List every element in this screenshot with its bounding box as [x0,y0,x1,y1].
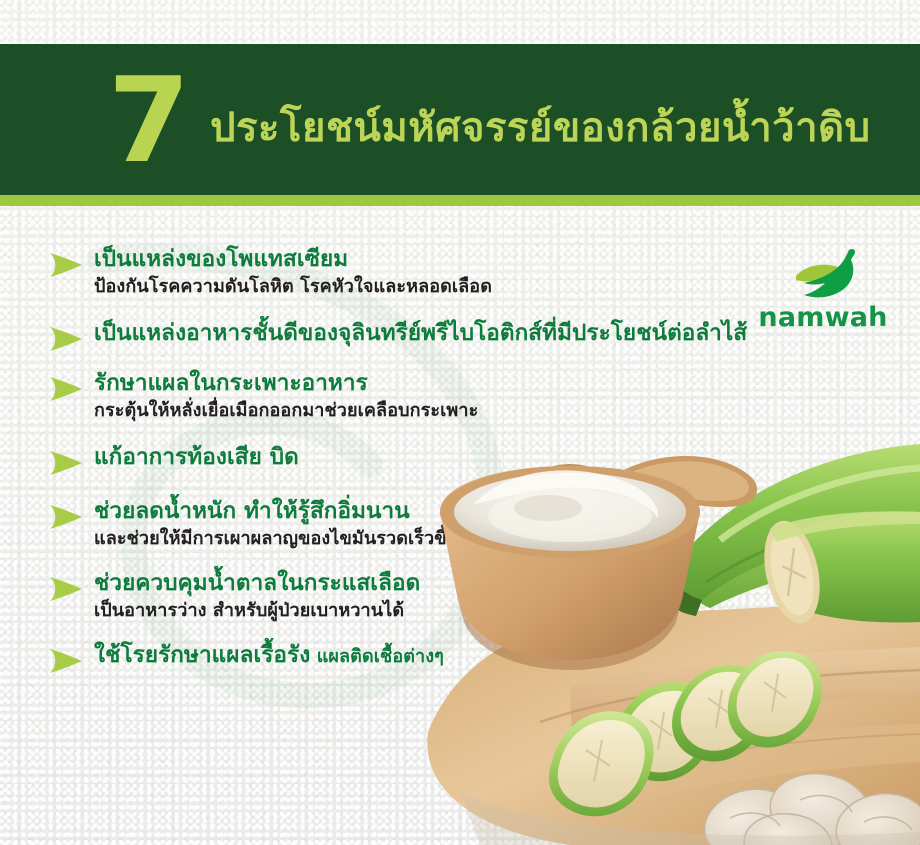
header-number: 7 [108,70,188,171]
arrow-bullet-icon [48,568,94,602]
arrow-bullet-icon [48,496,94,530]
arrow-bullet-icon [48,244,94,278]
list-item-body: รักษาแผลในกระเพาะอาหาร กระตุ้นให้หลั่งเย… [94,368,808,424]
infographic-poster: 7 ประโยชน์มหัศจรรย์ของกล้วยน้ำว้าดิบ nam… [0,0,920,845]
header-bottom-stripe [0,195,920,206]
list-item: รักษาแผลในกระเพาะอาหาร กระตุ้นให้หลั่งเย… [48,368,808,424]
benefit-lead-main: ใช้โรยรักษาแผลเรื้อรัง [94,642,310,668]
list-item: เป็นแหล่งอาหารชั้นดีของจุลินทรีย์พรีไบโอ… [48,318,808,352]
header-content: 7 ประโยชน์มหัศจรรย์ของกล้วยน้ำว้าดิบ [0,53,920,195]
arrow-bullet-icon [48,318,94,352]
benefit-lead: เป็นแหล่งอาหารชั้นดีของจุลินทรีย์พรีไบโอ… [94,318,808,348]
arrow-bullet-icon [48,640,94,674]
banana-flour-photo-illustration [420,432,920,845]
benefit-sub: ป้องกันโรคความดันโลหิต โรคหัวใจและหลอดเล… [94,275,808,300]
benefit-lead: เป็นแหล่งของโพแทสเซียม [94,244,808,274]
product-photo [420,432,920,845]
benefit-lead: รักษาแผลในกระเพาะอาหาร [94,368,808,398]
list-item-body: เป็นแหล่งอาหารชั้นดีของจุลินทรีย์พรีไบโอ… [94,318,808,348]
arrow-bullet-icon [48,442,94,476]
arrow-bullet-icon [48,368,94,402]
benefit-sub: กระตุ้นให้หลั่งเยื่อเมือกออกมาช่วยเคลือบ… [94,399,808,424]
list-item: เป็นแหล่งของโพแทสเซียม ป้องกันโรคความดัน… [48,244,808,300]
page-title: ประโยชน์มหัศจรรย์ของกล้วยน้ำว้าดิบ [210,95,870,159]
list-item-body: เป็นแหล่งของโพแทสเซียม ป้องกันโรคความดัน… [94,244,808,300]
